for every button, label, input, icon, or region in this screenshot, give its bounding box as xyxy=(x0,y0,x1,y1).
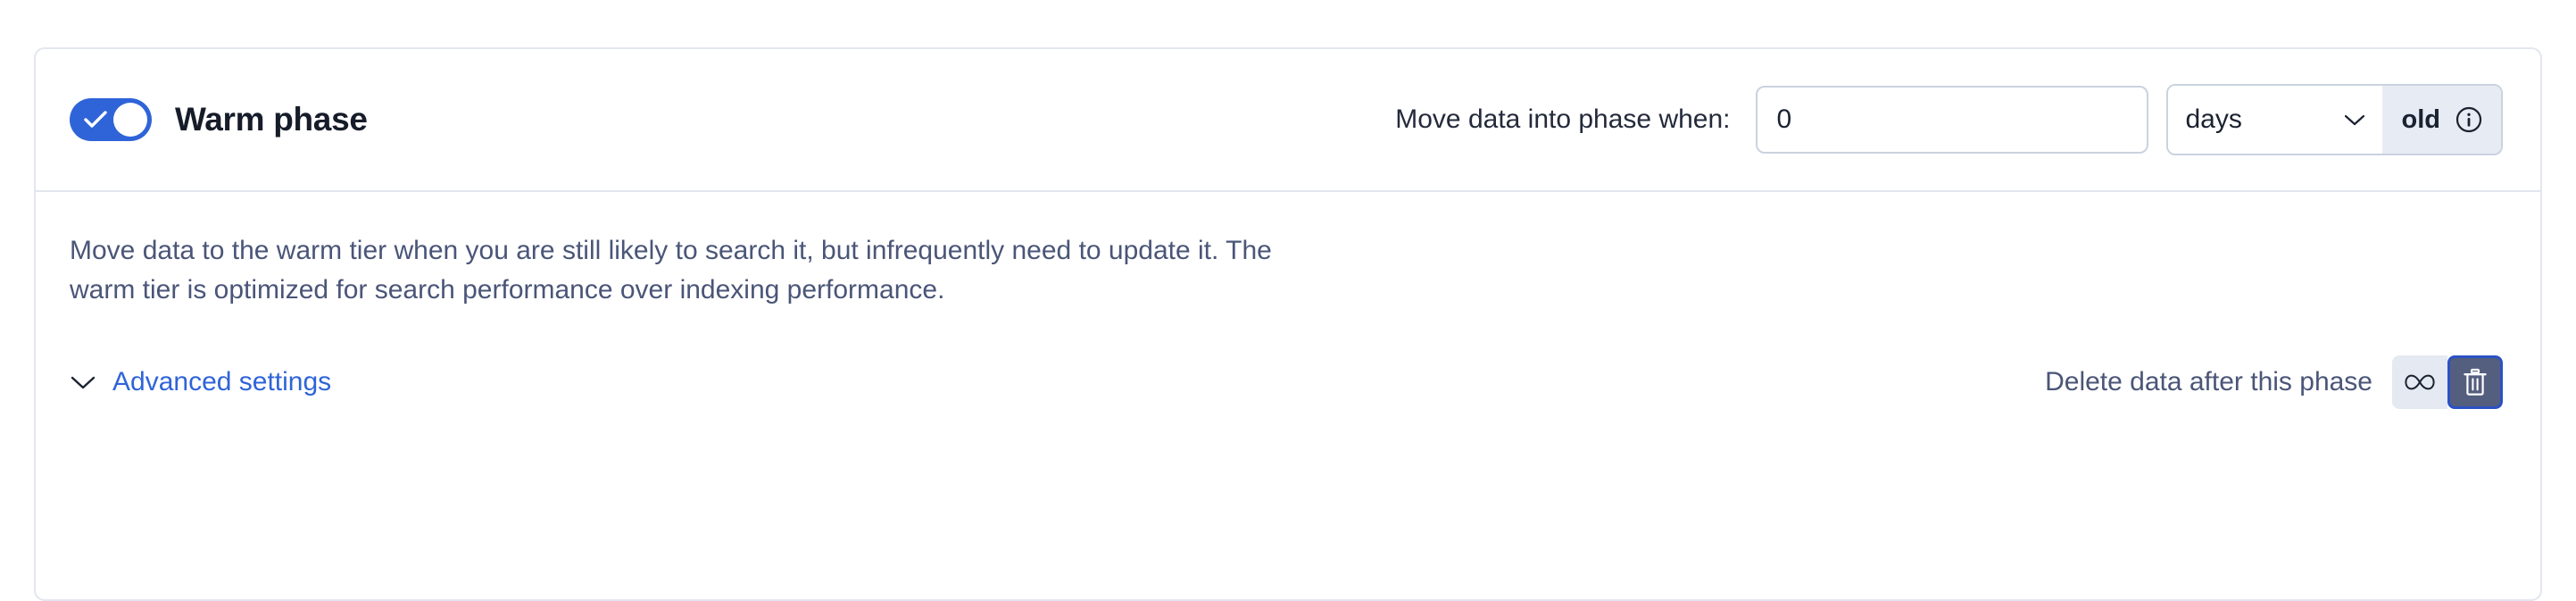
warm-phase-card: Warm phase Move data into phase when: da… xyxy=(34,47,2542,601)
chevron-down-icon xyxy=(70,374,96,390)
delete-phase-area: Delete data after this phase xyxy=(2045,355,2503,409)
timing-label: Move data into phase when: xyxy=(1395,104,1730,135)
delete-data-button[interactable] xyxy=(2447,355,2503,409)
timing-units-value: days xyxy=(2186,104,2242,135)
phase-description: Move data to the warm tier when you are … xyxy=(70,231,1319,311)
phase-footer: Advanced settings Delete data after this… xyxy=(70,355,2503,409)
phase-body: Move data to the warm tier when you are … xyxy=(36,192,2540,409)
phase-timing-controls: Move data into phase when: days old xyxy=(1395,84,2503,155)
advanced-settings-label: Advanced settings xyxy=(112,367,331,397)
delete-data-button-group xyxy=(2392,355,2503,409)
min-age-input[interactable] xyxy=(1756,86,2148,154)
timing-units-select[interactable]: days xyxy=(2168,86,2382,154)
warm-phase-toggle[interactable] xyxy=(70,98,152,141)
timing-units-append: old xyxy=(2382,86,2502,154)
trash-icon xyxy=(2463,368,2488,396)
info-circle-icon[interactable] xyxy=(2455,105,2483,134)
phase-header: Warm phase Move data into phase when: da… xyxy=(36,49,2540,192)
page-title: Warm phase xyxy=(175,101,368,138)
infinity-icon xyxy=(2404,372,2436,392)
timing-append-label: old xyxy=(2402,105,2441,135)
keep-data-forever-button[interactable] xyxy=(2392,355,2447,409)
timing-units-group: days old xyxy=(2166,84,2504,155)
delete-data-label: Delete data after this phase xyxy=(2045,367,2372,397)
check-icon xyxy=(84,110,107,129)
advanced-settings-toggle[interactable]: Advanced settings xyxy=(70,367,331,397)
toggle-knob xyxy=(113,103,147,137)
chevron-down-icon xyxy=(2343,113,2366,127)
phase-header-left: Warm phase xyxy=(70,98,368,141)
